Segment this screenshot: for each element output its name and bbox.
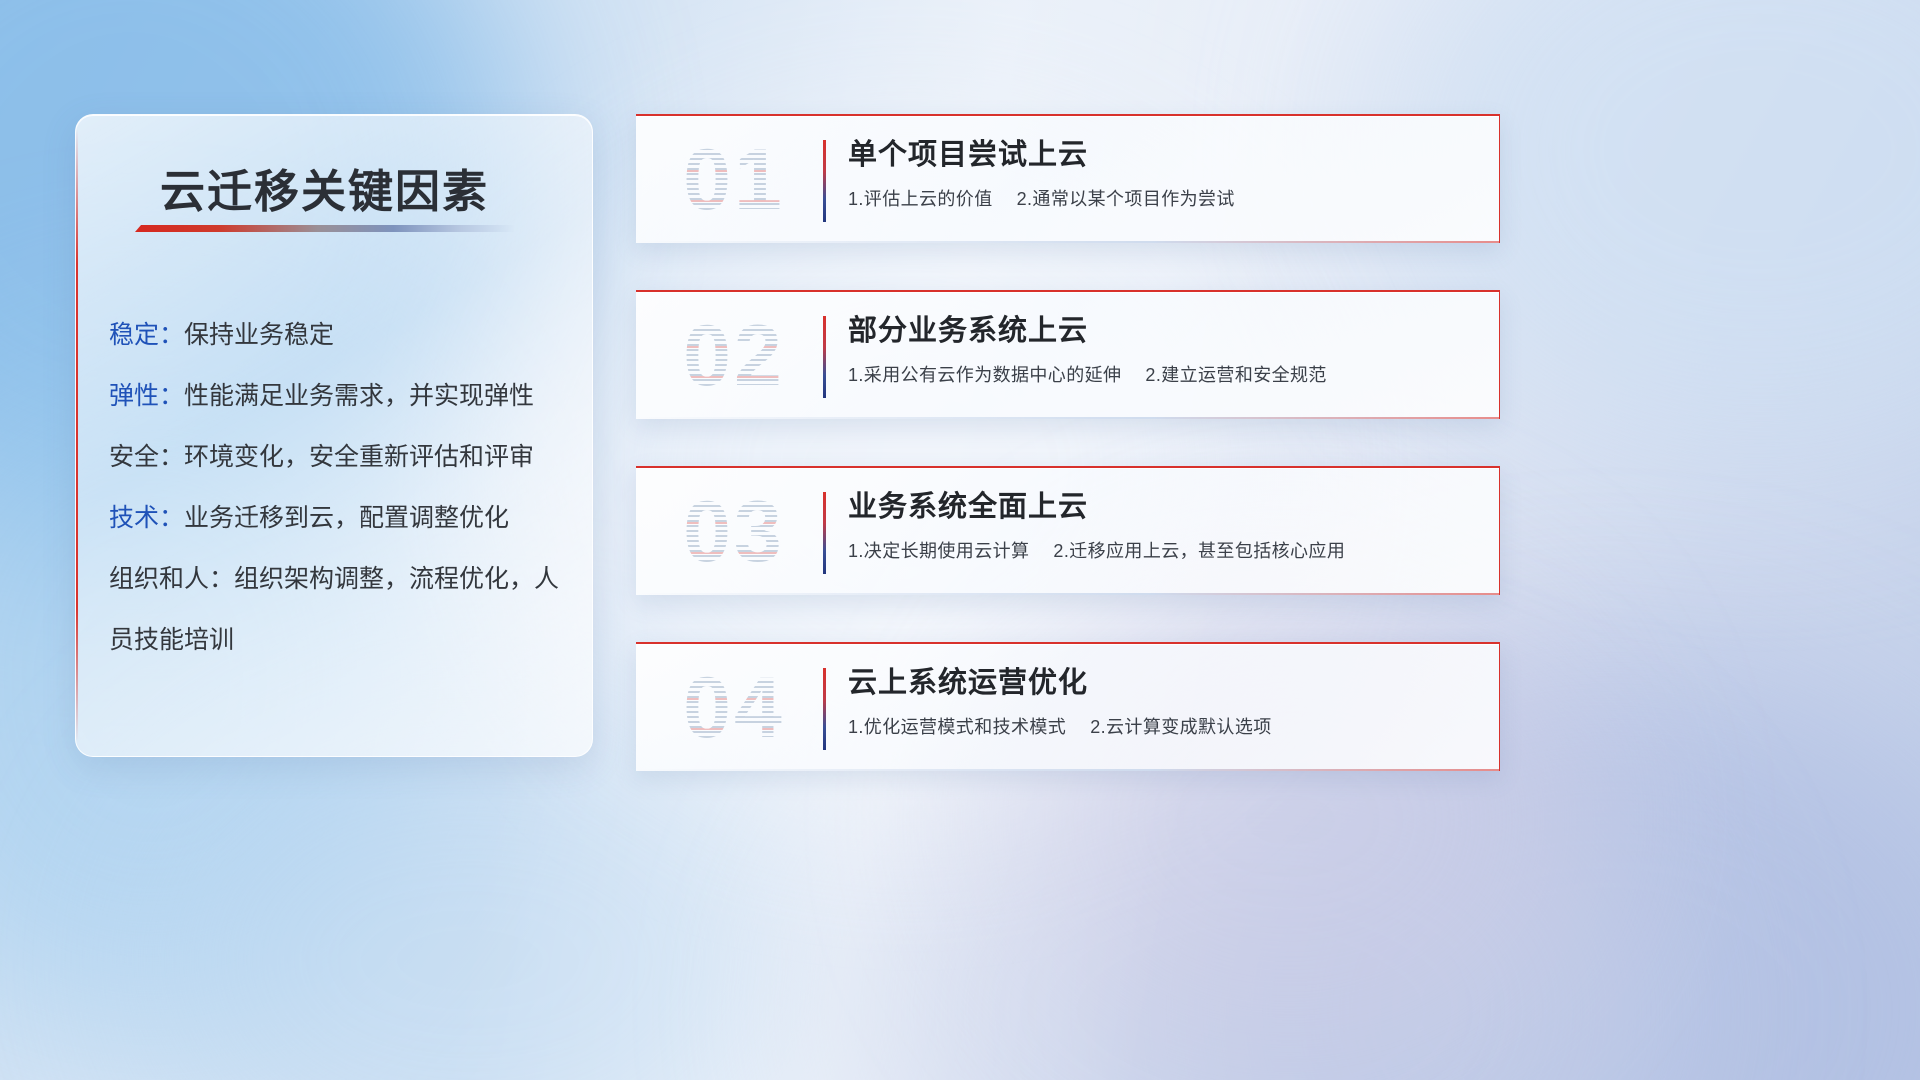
stage-card-04[interactable]: 04 04 云上系统运营优化 1.优化运营模式和技术模式2.云计算变成默认选项 bbox=[636, 642, 1500, 771]
accent-bar bbox=[823, 492, 826, 574]
factor-value: 性能满足业务需求，并实现弹性 bbox=[184, 382, 534, 410]
factor-value: 环境变化，安全重新评估和评审 bbox=[184, 443, 534, 471]
list-item: 安全：环境变化，安全重新评估和评审 bbox=[109, 427, 568, 488]
stage-description-part-2: 2.迁移应用上云，甚至包括核心应用 bbox=[1053, 541, 1345, 561]
stage-description-part-1: 1.优化运营模式和技术模式 bbox=[848, 717, 1066, 737]
factor-key: 安全： bbox=[109, 443, 184, 471]
stage-number-04-red-overlay: 04 bbox=[664, 656, 804, 760]
stage-description-part-1: 1.决定长期使用云计算 bbox=[848, 541, 1029, 561]
stage-card-text: 部分业务系统上云 1.采用公有云作为数据中心的延伸2.建立运营和安全规范 bbox=[848, 310, 1473, 389]
factor-key: 技术： bbox=[109, 504, 184, 532]
list-item: 技术：业务迁移到云，配置调整优化 bbox=[109, 488, 568, 549]
key-factors-panel: 云迁移关键因素 稳定：保持业务稳定 弹性：性能满足业务需求，并实现弹性 安全：环… bbox=[75, 114, 593, 757]
stage-title: 部分业务系统上云 bbox=[848, 310, 1473, 352]
factor-key: 弹性： bbox=[109, 382, 184, 410]
stage-description-part-2: 2.云计算变成默认选项 bbox=[1090, 717, 1271, 737]
slide-stage: 云迁移关键因素 稳定：保持业务稳定 弹性：性能满足业务需求，并实现弹性 安全：环… bbox=[0, 0, 1920, 1080]
stage-card-text: 云上系统运营优化 1.优化运营模式和技术模式2.云计算变成默认选项 bbox=[848, 662, 1473, 741]
stage-card-text: 业务系统全面上云 1.决定长期使用云计算2.迁移应用上云，甚至包括核心应用 bbox=[848, 486, 1473, 565]
factor-key: 组织和人： bbox=[109, 565, 234, 593]
list-item: 稳定：保持业务稳定 bbox=[109, 305, 568, 366]
accent-bar bbox=[823, 316, 826, 398]
stage-card-03[interactable]: 03 03 业务系统全面上云 1.决定长期使用云计算2.迁移应用上云，甚至包括核… bbox=[636, 466, 1500, 595]
factor-list: 稳定：保持业务稳定 弹性：性能满足业务需求，并实现弹性 安全：环境变化，安全重新… bbox=[109, 305, 568, 671]
factor-key: 稳定： bbox=[109, 321, 184, 349]
stage-description-part-1: 1.采用公有云作为数据中心的延伸 bbox=[848, 365, 1121, 385]
list-item: 弹性：性能满足业务需求，并实现弹性 bbox=[109, 366, 568, 427]
stage-number-01-red-overlay: 01 bbox=[664, 128, 804, 232]
stage-card-02[interactable]: 02 02 部分业务系统上云 1.采用公有云作为数据中心的延伸2.建立运营和安全… bbox=[636, 290, 1500, 419]
stage-title: 业务系统全面上云 bbox=[848, 486, 1473, 528]
stage-card-01[interactable]: 01 01 单个项目尝试上云 1.评估上云的价值2.通常以某个项目作为尝试 bbox=[636, 114, 1500, 243]
stage-description-part-1: 1.评估上云的价值 bbox=[848, 189, 993, 209]
stage-description-part-2: 2.建立运营和安全规范 bbox=[1145, 365, 1326, 385]
stage-number-02-red-overlay: 02 bbox=[664, 304, 804, 408]
stage-description: 1.优化运营模式和技术模式2.云计算变成默认选项 bbox=[848, 713, 1473, 741]
factor-value: 保持业务稳定 bbox=[184, 321, 334, 349]
stage-description: 1.采用公有云作为数据中心的延伸2.建立运营和安全规范 bbox=[848, 361, 1473, 389]
stage-card-text: 单个项目尝试上云 1.评估上云的价值2.通常以某个项目作为尝试 bbox=[848, 134, 1473, 213]
stage-title: 云上系统运营优化 bbox=[848, 662, 1473, 704]
stage-title: 单个项目尝试上云 bbox=[848, 134, 1473, 176]
stage-description: 1.评估上云的价值2.通常以某个项目作为尝试 bbox=[848, 185, 1473, 213]
stage-description: 1.决定长期使用云计算2.迁移应用上云，甚至包括核心应用 bbox=[848, 537, 1473, 565]
accent-bar bbox=[823, 668, 826, 750]
page-title: 云迁移关键因素 bbox=[160, 155, 489, 220]
list-item: 组织和人：组织架构调整，流程优化，人员技能培训 bbox=[109, 549, 568, 671]
stage-number-03-red-overlay: 03 bbox=[664, 480, 804, 584]
factor-value: 业务迁移到云，配置调整优化 bbox=[184, 504, 509, 532]
stage-card-list: 01 01 单个项目尝试上云 1.评估上云的价值2.通常以某个项目作为尝试 02… bbox=[636, 114, 1500, 771]
title-underline-rule bbox=[135, 225, 515, 232]
accent-bar bbox=[823, 140, 826, 222]
stage-description-part-2: 2.通常以某个项目作为尝试 bbox=[1017, 189, 1235, 209]
